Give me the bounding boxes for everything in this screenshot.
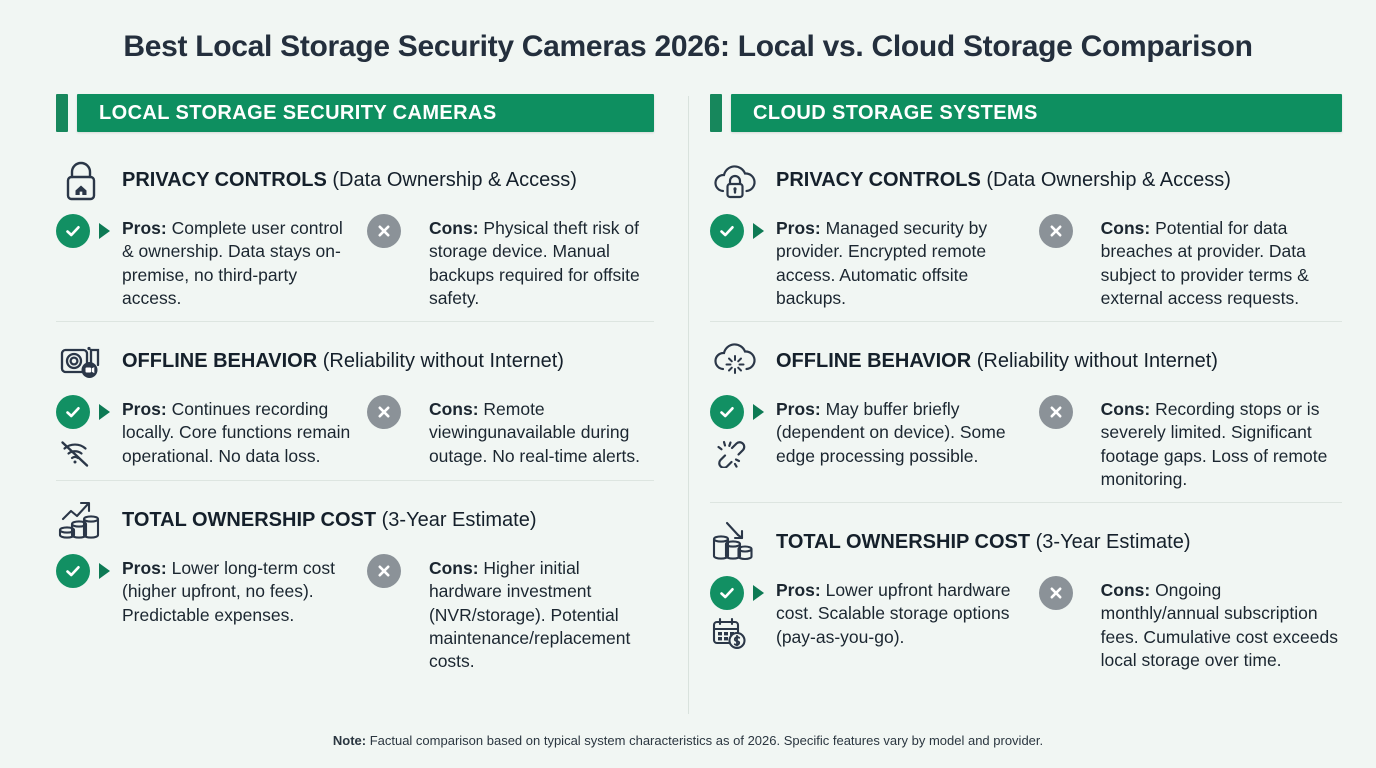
footer-note: Note: Factual comparison based on typica… [0, 733, 1376, 748]
cons-mark-line [1039, 576, 1073, 610]
cons-mark-line [367, 214, 401, 248]
cons-mark-line [367, 395, 401, 429]
pros-block: Pros: Continues recording locally. Core … [56, 395, 367, 469]
pros-block: Pros: Lower long-term cost (higher upfro… [56, 554, 367, 673]
security-camera-icon [56, 337, 106, 385]
feature-title-sub: (3-Year Estimate) [376, 509, 536, 531]
feature-title: PRIVACY CONTROLS (Data Ownership & Acces… [122, 168, 577, 192]
pros-marks [56, 395, 122, 469]
x-circle-icon [367, 395, 401, 429]
cons-marks [1039, 214, 1101, 310]
cons-mark-line [1039, 395, 1073, 429]
pros-text: Pros: Managed security by provider. Encr… [776, 214, 1031, 310]
cons-label: Cons: [429, 558, 479, 578]
pros-label: Pros: [776, 580, 821, 600]
cons-text: Cons: Physical theft risk of storage dev… [429, 214, 654, 310]
lock-home-icon [56, 156, 106, 204]
header-accent-tick [56, 94, 68, 132]
pros-cons-row: Pros: Managed security by provider. Encr… [710, 214, 1342, 310]
column-header-label: LOCAL STORAGE SECURITY CAMERAS [99, 102, 497, 125]
pros-mark-line [710, 214, 764, 248]
arrow-right-icon [753, 404, 764, 420]
pros-marks [710, 395, 776, 491]
pros-label: Pros: [776, 218, 821, 238]
header-gap [722, 94, 731, 132]
feature-title-main: TOTAL OWNERSHIP COST [776, 531, 1030, 553]
calendar-dollar-icon [711, 616, 747, 650]
pros-cons-row: Pros: Continues recording locally. Core … [56, 395, 654, 469]
feature-heading: TOTAL OWNERSHIP COST (3-Year Estimate) [710, 518, 1342, 566]
feature-title-sub: (Reliability without Internet) [317, 350, 564, 372]
wifi-off-icon [57, 435, 93, 469]
feature-heading: OFFLINE BEHAVIOR (Reliability without In… [710, 337, 1342, 385]
header-bar: LOCAL STORAGE SECURITY CAMERAS [77, 94, 654, 132]
pros-text: Pros: Complete user control & ownership.… [122, 214, 359, 310]
cons-marks [367, 395, 429, 469]
cons-marks [1039, 395, 1101, 491]
pros-marks [710, 576, 776, 672]
cloud-loading-icon [710, 337, 760, 385]
cons-label: Cons: [429, 218, 479, 238]
feature-heading: OFFLINE BEHAVIOR (Reliability without In… [56, 337, 654, 385]
coins-arrow-down-icon [710, 518, 760, 566]
cons-label: Cons: [429, 399, 479, 419]
cons-text: Cons: Recording stops or is severely lim… [1101, 395, 1342, 491]
pros-label: Pros: [122, 558, 167, 578]
footer-note-text: Factual comparison based on typical syst… [366, 733, 1043, 748]
feature-heading: PRIVACY CONTROLS (Data Ownership & Acces… [56, 156, 654, 204]
x-circle-icon [367, 214, 401, 248]
cons-label: Cons: [1101, 399, 1151, 419]
feature-heading: PRIVACY CONTROLS (Data Ownership & Acces… [710, 156, 1342, 204]
pros-label: Pros: [776, 399, 821, 419]
check-circle-icon [710, 576, 744, 610]
feature-title-sub: (Reliability without Internet) [971, 350, 1218, 372]
check-circle-icon [56, 395, 90, 429]
pros-cons-row: Pros: Complete user control & ownership.… [56, 214, 654, 310]
cloud-lock-icon [710, 156, 760, 204]
feature-title-main: OFFLINE BEHAVIOR [776, 350, 971, 372]
arrow-right-icon [753, 585, 764, 601]
footer-note-label: Note: [333, 733, 366, 748]
column-header-label: CLOUD STORAGE SYSTEMS [753, 102, 1038, 125]
feature-privacy-controls-local: PRIVACY CONTROLS (Data Ownership & Acces… [56, 154, 654, 310]
pros-marks [710, 214, 776, 310]
pros-block: Pros: Lower upfront hardware cost. Scala… [710, 576, 1039, 672]
pros-label: Pros: [122, 399, 167, 419]
feature-title: PRIVACY CONTROLS (Data Ownership & Acces… [776, 168, 1231, 192]
feature-title-main: PRIVACY CONTROLS [776, 169, 981, 191]
cons-text: Cons: Higher initial hardware investment… [429, 554, 654, 673]
feature-title-main: PRIVACY CONTROLS [122, 169, 327, 191]
pros-text: Pros: Lower long-term cost (higher upfro… [122, 554, 359, 673]
cons-block: Cons: Recording stops or is severely lim… [1039, 395, 1342, 491]
cons-label: Cons: [1101, 580, 1151, 600]
infographic-page: Best Local Storage Security Cameras 2026… [0, 0, 1376, 768]
feature-title: TOTAL OWNERSHIP COST (3-Year Estimate) [776, 530, 1191, 554]
x-circle-icon [367, 554, 401, 588]
feature-title-main: OFFLINE BEHAVIOR [122, 350, 317, 372]
cons-marks [367, 554, 429, 673]
pros-marks [56, 214, 122, 310]
pros-mark-line [710, 576, 764, 610]
pros-cons-row: Pros: Lower long-term cost (higher upfro… [56, 554, 654, 673]
x-circle-icon [1039, 576, 1073, 610]
pros-marks [56, 554, 122, 673]
column-header-cloud: CLOUD STORAGE SYSTEMS [710, 94, 1342, 132]
pros-block: Pros: Managed security by provider. Encr… [710, 214, 1039, 310]
x-circle-icon [1039, 214, 1073, 248]
cons-mark-line [1039, 214, 1073, 248]
feature-privacy-controls-cloud: PRIVACY CONTROLS (Data Ownership & Acces… [710, 154, 1342, 310]
pros-text: Pros: Lower upfront hardware cost. Scala… [776, 576, 1031, 672]
pros-cons-row: Pros: Lower upfront hardware cost. Scala… [710, 576, 1342, 672]
feature-offline-behavior-cloud: OFFLINE BEHAVIOR (Reliability without In… [710, 321, 1342, 491]
check-circle-icon [56, 554, 90, 588]
pros-block: Pros: Complete user control & ownership.… [56, 214, 367, 310]
cons-label: Cons: [1101, 218, 1151, 238]
cons-marks [367, 214, 429, 310]
check-circle-icon [710, 214, 744, 248]
feature-title-main: TOTAL OWNERSHIP COST [122, 509, 376, 531]
pros-mark-line [56, 395, 110, 429]
column-cloud-storage: CLOUD STORAGE SYSTEMS [688, 94, 1376, 714]
cons-text: Cons: Ongoing monthly/annual subscriptio… [1101, 576, 1342, 672]
page-title: Best Local Storage Security Cameras 2026… [0, 30, 1376, 64]
feature-total-ownership-cost-cloud: TOTAL OWNERSHIP COST (3-Year Estimate) [710, 502, 1342, 672]
cons-text: Cons: Remote viewingunavailable during o… [429, 395, 654, 469]
pros-text: Pros: Continues recording locally. Core … [122, 395, 359, 469]
cons-block: Cons: Physical theft risk of storage dev… [367, 214, 654, 310]
column-local-storage: LOCAL STORAGE SECURITY CAMERAS PRIVACY C… [0, 94, 688, 714]
feature-offline-behavior-local: OFFLINE BEHAVIOR (Reliability without In… [56, 321, 654, 469]
arrow-right-icon [99, 223, 110, 239]
feature-total-ownership-cost-local: TOTAL OWNERSHIP COST (3-Year Estimate) [56, 480, 654, 673]
check-circle-icon [710, 395, 744, 429]
cons-marks [1039, 576, 1101, 672]
x-circle-icon [1039, 395, 1073, 429]
arrow-right-icon [99, 404, 110, 420]
feature-title-sub: (Data Ownership & Access) [981, 169, 1231, 191]
cons-mark-line [367, 554, 401, 588]
header-gap [68, 94, 77, 132]
feature-title: TOTAL OWNERSHIP COST (3-Year Estimate) [122, 508, 537, 532]
coins-arrow-up-icon [56, 496, 106, 544]
comparison-columns: LOCAL STORAGE SECURITY CAMERAS PRIVACY C… [0, 94, 1376, 714]
pros-mark-line [710, 395, 764, 429]
pros-cons-row: Pros: May buffer briefly (dependent on d… [710, 395, 1342, 491]
pros-mark-line [56, 554, 110, 588]
check-circle-icon [56, 214, 90, 248]
feature-title-sub: (Data Ownership & Access) [327, 169, 577, 191]
pros-text: Pros: May buffer briefly (dependent on d… [776, 395, 1031, 491]
cons-text: Cons: Potential for data breaches at pro… [1101, 214, 1342, 310]
column-header-local: LOCAL STORAGE SECURITY CAMERAS [56, 94, 654, 132]
feature-title: OFFLINE BEHAVIOR (Reliability without In… [122, 349, 564, 373]
broken-link-icon [711, 435, 747, 469]
header-bar: CLOUD STORAGE SYSTEMS [731, 94, 1342, 132]
cons-block: Cons: Ongoing monthly/annual subscriptio… [1039, 576, 1342, 672]
arrow-right-icon [99, 563, 110, 579]
feature-title: OFFLINE BEHAVIOR (Reliability without In… [776, 349, 1218, 373]
cons-block: Cons: Higher initial hardware investment… [367, 554, 654, 673]
header-accent-tick [710, 94, 722, 132]
pros-mark-line [56, 214, 110, 248]
pros-label: Pros: [122, 218, 167, 238]
cons-block: Cons: Remote viewingunavailable during o… [367, 395, 654, 469]
feature-heading: TOTAL OWNERSHIP COST (3-Year Estimate) [56, 496, 654, 544]
cons-block: Cons: Potential for data breaches at pro… [1039, 214, 1342, 310]
feature-title-sub: (3-Year Estimate) [1030, 531, 1190, 553]
pros-block: Pros: May buffer briefly (dependent on d… [710, 395, 1039, 491]
arrow-right-icon [753, 223, 764, 239]
